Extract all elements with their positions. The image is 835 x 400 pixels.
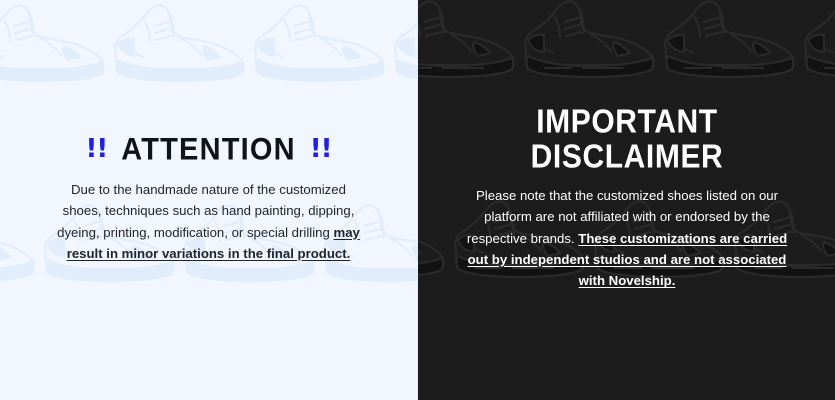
customization-disclaimer-banner: !! ATTENTION !! Due to the handmade natu… (0, 0, 835, 400)
disclaimer-heading-line2: DISCLAIMER (531, 141, 724, 177)
disclaimer-panel: IMPORTANTDISCLAIMER Please note that the… (417, 0, 835, 400)
attention-panel: !! ATTENTION !! Due to the handmade natu… (0, 0, 417, 400)
attention-body-normal: Due to the handmade nature of the custom… (57, 182, 354, 240)
disclaimer-heading: IMPORTANTDISCLAIMER (531, 105, 724, 176)
double-exclamation-icon-left: !! (85, 136, 107, 162)
disclaimer-heading-line1: IMPORTANT (536, 104, 718, 140)
attention-heading: ATTENTION (121, 135, 296, 166)
double-exclamation-icon-right: !! (310, 136, 332, 162)
disclaimer-body: Please note that the customized shoes li… (462, 185, 792, 292)
disclaimer-content: IMPORTANTDISCLAIMER Please note that the… (418, 0, 835, 400)
attention-heading-row: !! ATTENTION !! (85, 136, 331, 165)
attention-body: Due to the handmade nature of the custom… (54, 179, 364, 265)
attention-content: !! ATTENTION !! Due to the handmade natu… (0, 0, 417, 400)
